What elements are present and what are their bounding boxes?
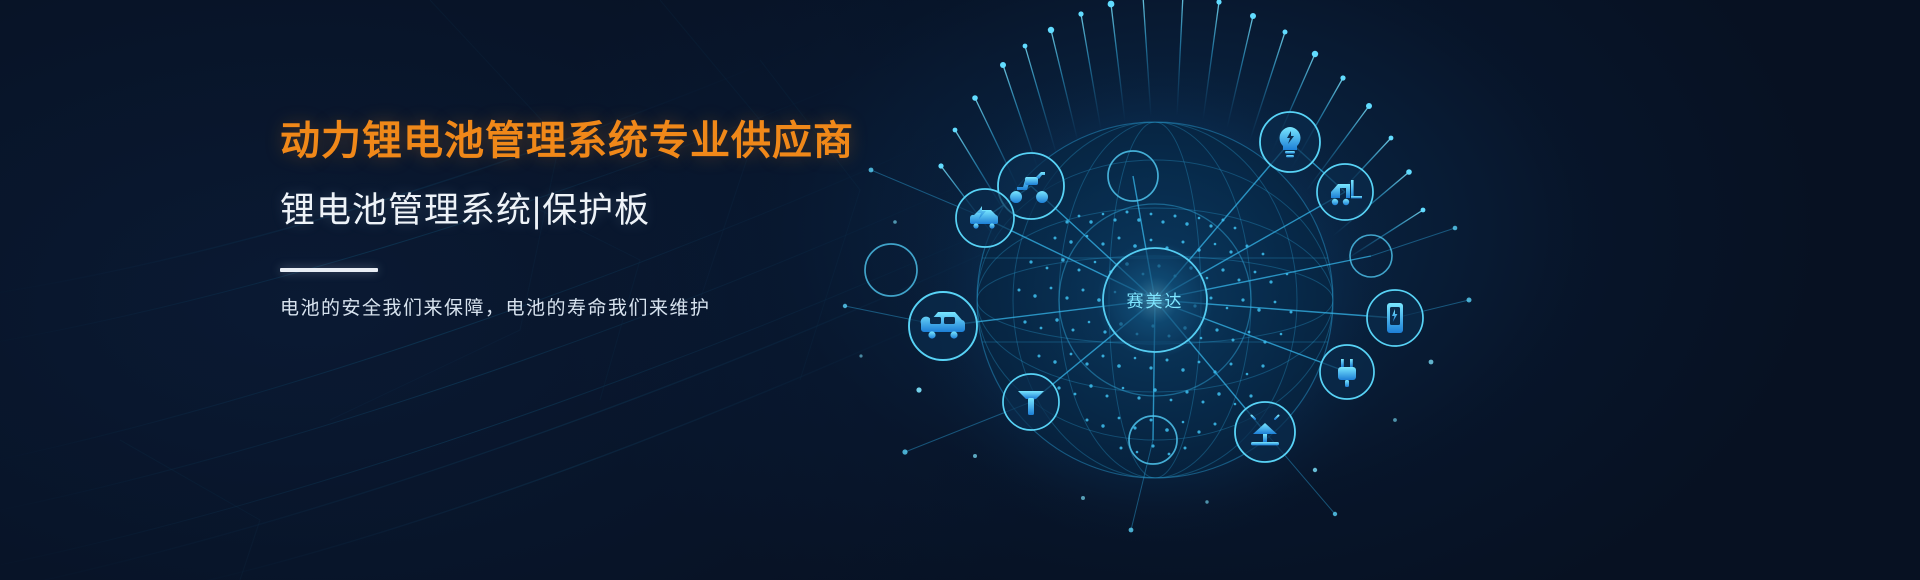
globe-network-graphic: 赛美达 (835, 0, 1475, 580)
hub-center-label: 赛美达 (1127, 291, 1184, 311)
banner-tagline: 电池的安全我们来保障，电池的寿命我们来维护 (280, 296, 900, 323)
banner-headline: 动力锂电池管理系统专业供应商 (280, 118, 900, 164)
node-phone-battery-icon (1367, 290, 1423, 346)
node-tool-icon (1003, 374, 1059, 430)
node-lightbulb-icon (1260, 112, 1320, 172)
node-car-charging-icon (956, 189, 1014, 247)
node-desk-lamp-icon (1235, 402, 1295, 462)
banner-divider (280, 268, 378, 272)
banner-copy: 动力锂电池管理系统专业供应商 锂电池管理系统|保护板 电池的安全我们来保障，电池… (280, 118, 900, 323)
node-forklift-icon (1317, 164, 1373, 220)
node-car-icon (909, 292, 977, 360)
banner-subtitle: 锂电池管理系统|保护板 (280, 190, 900, 232)
node-plug-icon (1320, 345, 1374, 399)
hero-banner: 动力锂电池管理系统专业供应商 锂电池管理系统|保护板 电池的安全我们来保障，电池… (0, 0, 1920, 580)
